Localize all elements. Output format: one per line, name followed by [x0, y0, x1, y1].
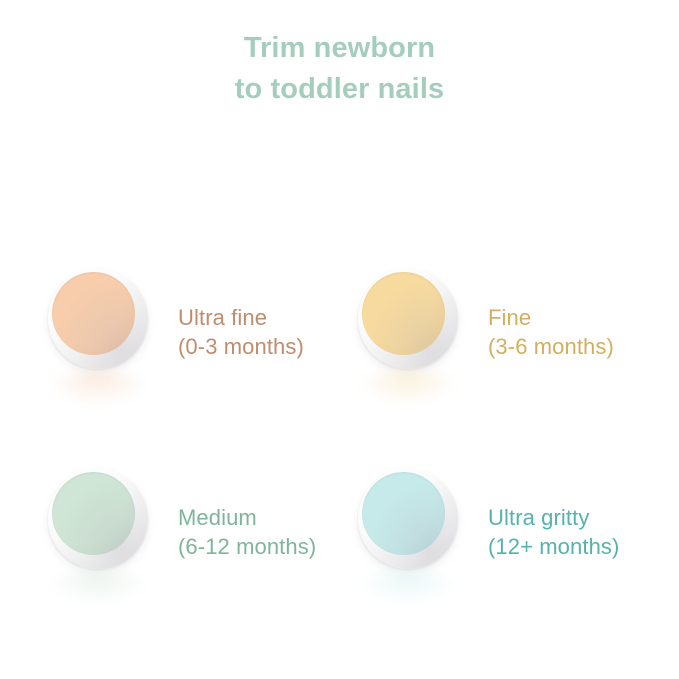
page-title-line-2: to toddler nails	[0, 69, 679, 110]
disc-pad	[362, 472, 445, 555]
grit-age-range: (3-6 months)	[488, 332, 614, 361]
page-title-line-1: Trim newborn	[0, 28, 679, 69]
grit-item: Fine (3-6 months)	[330, 232, 670, 432]
grit-age-range: (6-12 months)	[178, 532, 316, 561]
grit-age-range: (0-3 months)	[178, 332, 304, 361]
disc-pad	[52, 272, 135, 355]
grit-disc	[350, 257, 468, 407]
grit-disc	[40, 457, 158, 607]
grit-item: Ultra fine (0-3 months)	[20, 232, 360, 432]
disc-body	[358, 269, 458, 369]
grit-name: Medium	[178, 503, 316, 532]
grit-label-group: Ultra fine (0-3 months)	[178, 303, 304, 362]
page-title: Trim newborn to toddler nails	[0, 28, 679, 110]
grit-age-range: (12+ months)	[488, 532, 619, 561]
grit-item: Medium (6-12 months)	[20, 432, 360, 632]
grit-disc	[350, 457, 468, 607]
disc-body	[48, 469, 148, 569]
grit-disc	[40, 257, 158, 407]
grit-name: Ultra fine	[178, 303, 304, 332]
disc-reflection	[46, 571, 150, 605]
grit-name: Ultra gritty	[488, 503, 619, 532]
disc-reflection	[356, 571, 460, 605]
disc-body	[358, 469, 458, 569]
disc-reflection	[356, 371, 460, 405]
disc-body	[48, 269, 148, 369]
disc-pad	[362, 272, 445, 355]
disc-reflection	[46, 371, 150, 405]
grit-label-group: Fine (3-6 months)	[488, 303, 614, 362]
grit-label-group: Ultra gritty (12+ months)	[488, 503, 619, 562]
disc-pad	[52, 472, 135, 555]
grit-item: Ultra gritty (12+ months)	[330, 432, 670, 632]
grit-name: Fine	[488, 303, 614, 332]
grit-label-group: Medium (6-12 months)	[178, 503, 316, 562]
grit-grid: Ultra fine (0-3 months) Fine (3-6 months…	[0, 232, 679, 632]
